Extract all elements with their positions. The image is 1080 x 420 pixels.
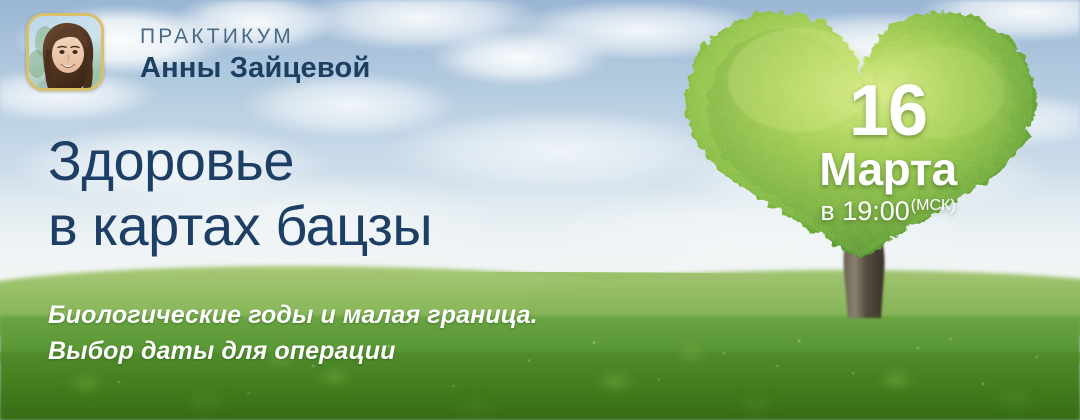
event-time-value: в 19:00 [820,196,909,226]
webinar-banner: ПРАКТИКУМ Анны Зайцевой Здоровье в карта… [0,0,1080,420]
brand-block: ПРАКТИКУМ Анны Зайцевой [140,26,370,83]
subtitle: Биологические годы и малая граница. Выбо… [48,298,538,369]
event-date-block: 16 Марта в 19:00(МСК) [788,78,988,225]
event-timezone: (МСК) [911,197,956,214]
presenter-name: Анны Зайцевой [140,54,370,83]
event-day: 16 [788,78,988,144]
practicum-kicker: ПРАКТИКУМ [140,26,370,47]
event-time: в 19:00(МСК) [788,198,988,225]
event-month: Марта [788,146,988,192]
page-title: Здоровье в картах бацзы [48,129,432,259]
grass-foreground-blur [0,382,1080,420]
avatar [26,13,104,91]
